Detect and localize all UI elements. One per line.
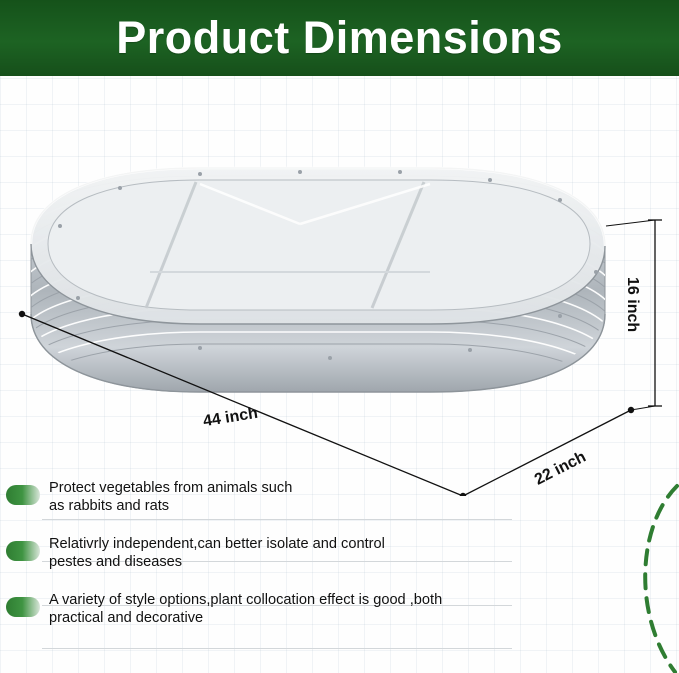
feature-text: Protect vegetables from animals such as … [49,480,292,515]
feature-text: Relativrly independent,can better isolat… [49,536,385,571]
feature-line: Protect vegetables from animals such [49,480,292,498]
feature-line: practical and decorative [49,610,442,628]
product-dimensions-infographic: Product Dimensions [0,0,679,673]
list-item: Relativrly independent,can better isolat… [0,536,679,571]
garden-bed-body [20,168,616,404]
feature-line: Relativrly independent,can better isolat… [49,536,385,554]
dimension-height-label: 16 inch [623,277,641,332]
list-item: Protect vegetables from animals such as … [0,480,679,515]
feature-divider [42,648,512,649]
page-title: Product Dimensions [0,0,679,76]
list-item: A variety of style options,plant colloca… [0,592,679,627]
feature-list: Protect vegetables from animals such as … [0,480,679,648]
feature-text: A variety of style options,plant colloca… [49,592,442,627]
feature-line: as rabbits and rats [49,498,292,516]
bullet-icon [6,541,40,561]
product-illustration [0,76,679,496]
bullet-icon [6,485,40,505]
feature-line: A variety of style options,plant colloca… [49,592,442,610]
bullet-icon [6,597,40,617]
feature-line: pestes and diseases [49,554,385,572]
